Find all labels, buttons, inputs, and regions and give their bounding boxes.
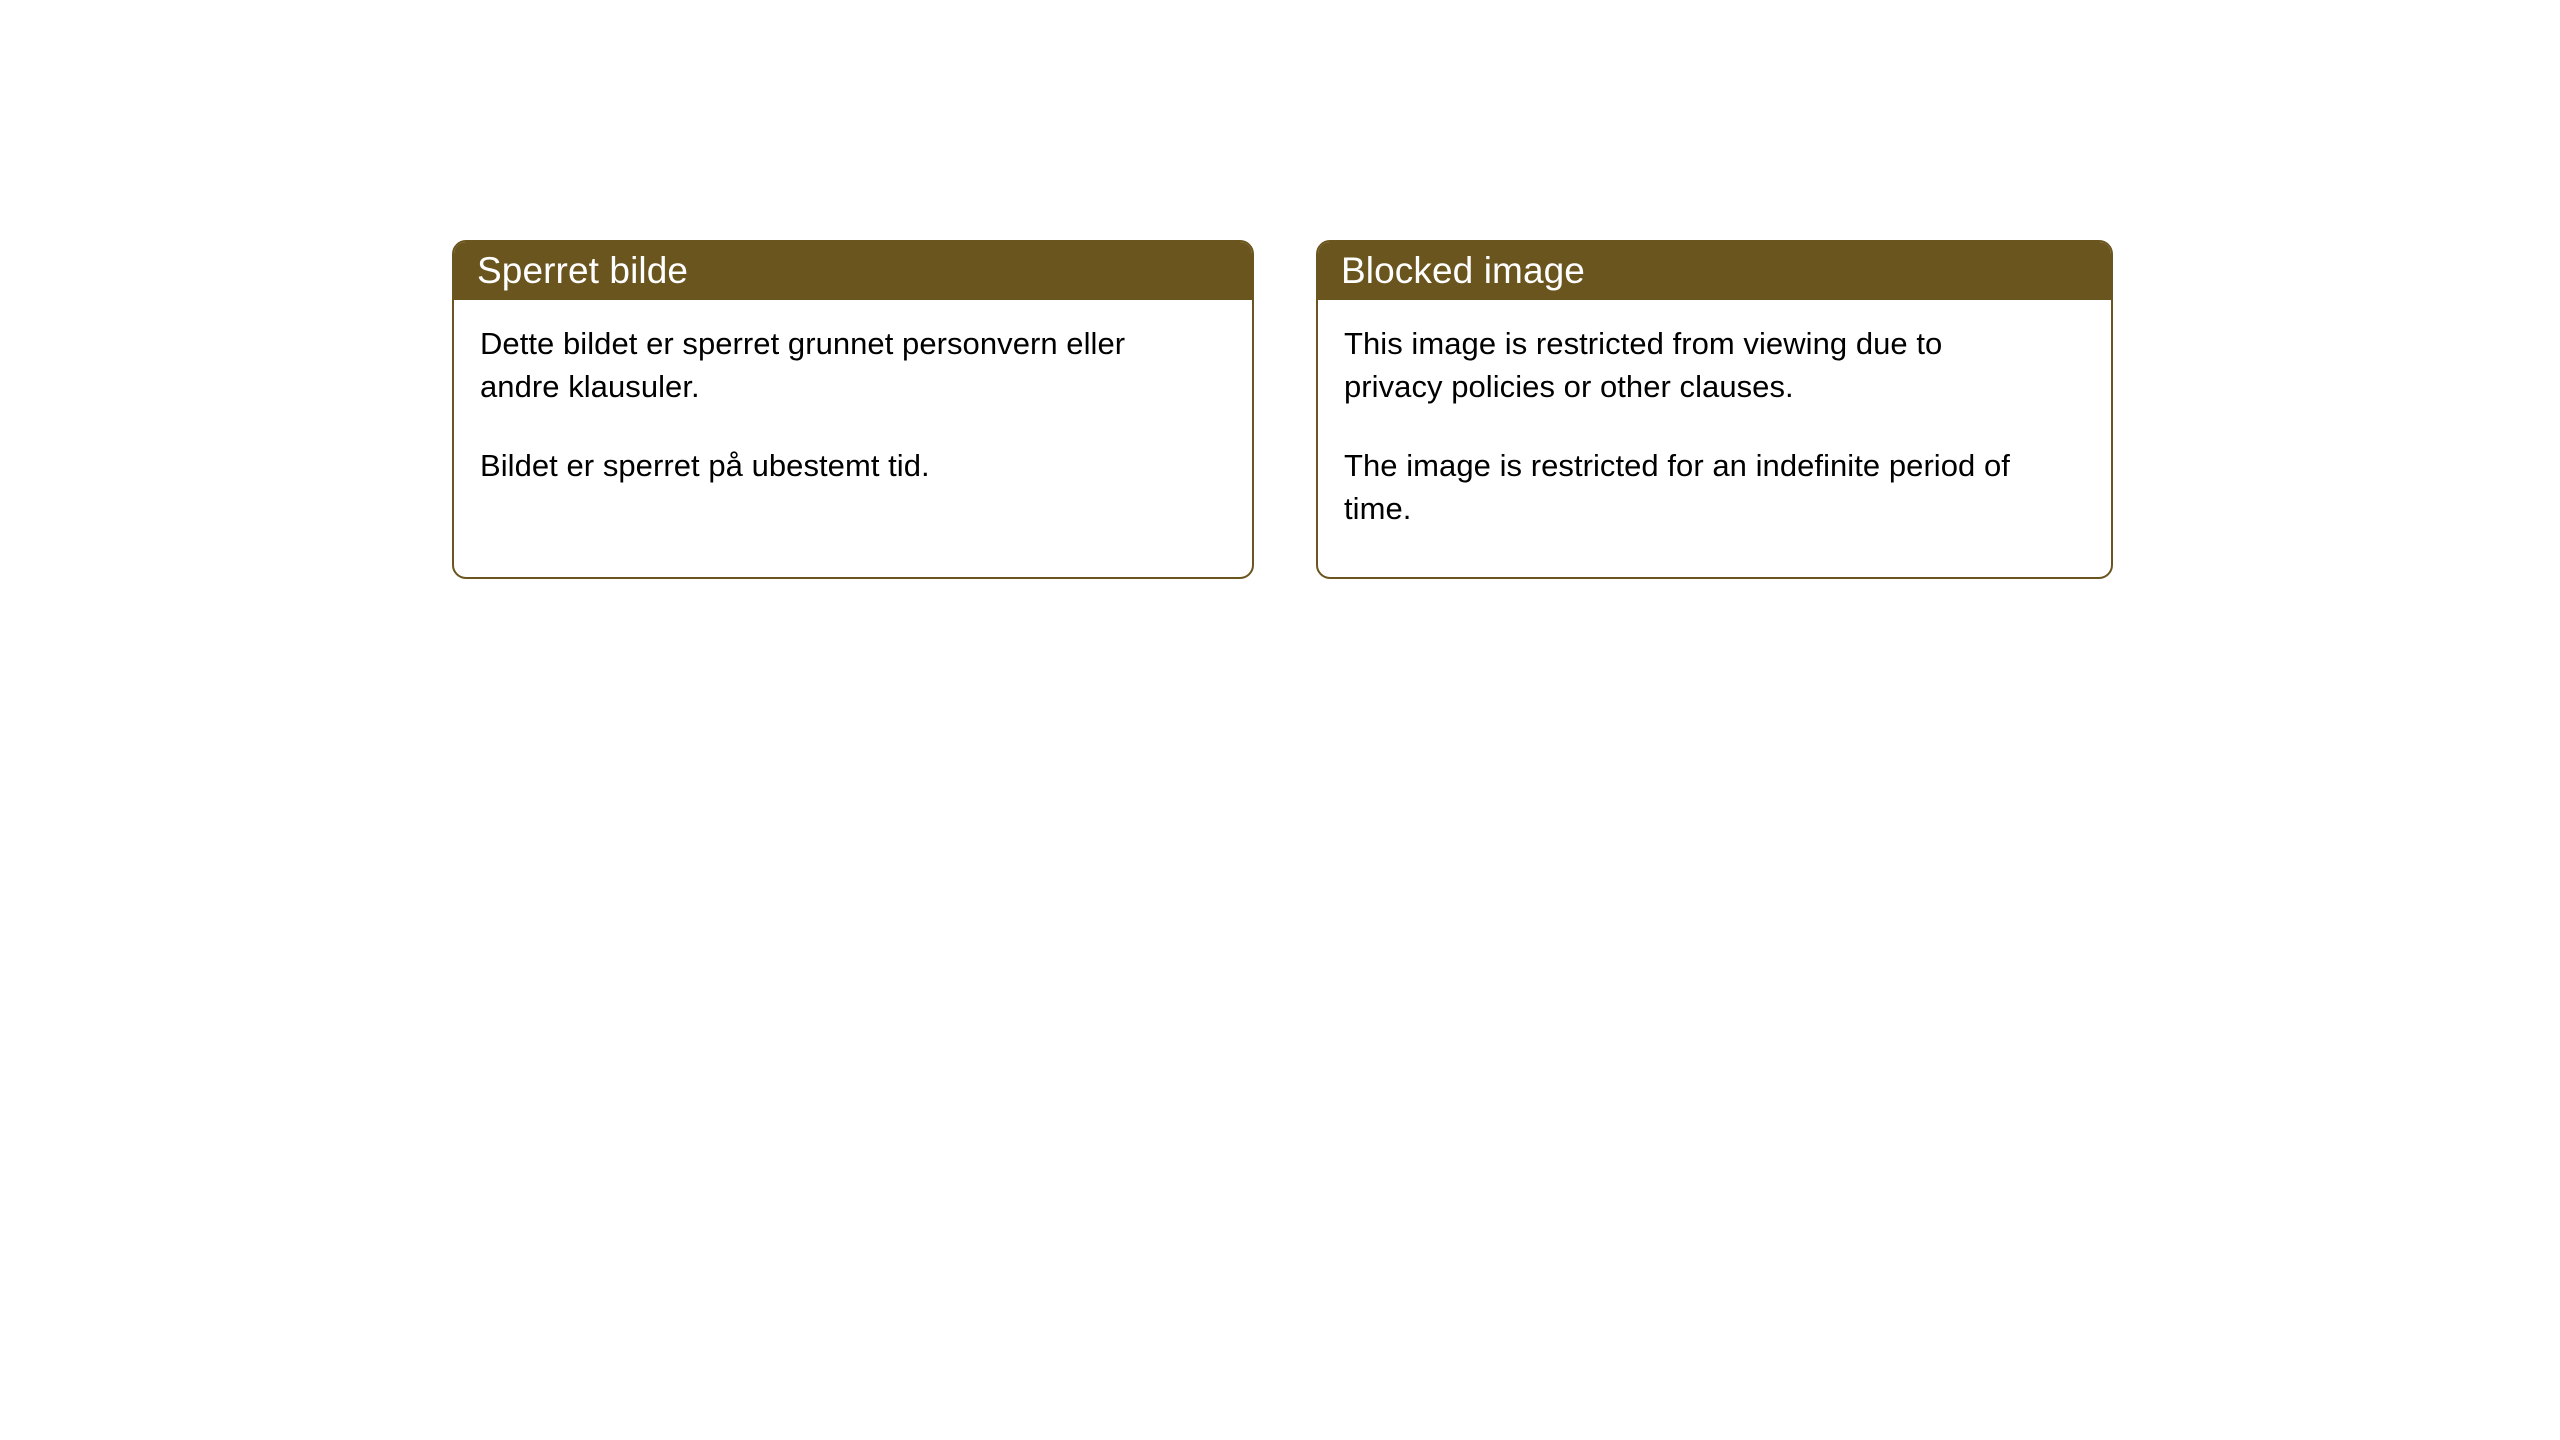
card-paragraph-secondary-english: The image is restricted for an indefinit… xyxy=(1344,444,2044,530)
card-title-norwegian: Sperret bilde xyxy=(477,252,688,289)
card-paragraph-primary-norwegian: Dette bildet er sperret grunnet personve… xyxy=(480,322,1180,408)
card-body-english: This image is restricted from viewing du… xyxy=(1318,300,2111,530)
card-body-norwegian: Dette bildet er sperret grunnet personve… xyxy=(454,300,1252,487)
card-header-english: Blocked image xyxy=(1316,240,2113,300)
blocked-image-card-norwegian: Sperret bilde Dette bildet er sperret gr… xyxy=(452,240,1254,579)
card-header-norwegian: Sperret bilde xyxy=(452,240,1254,300)
card-paragraph-secondary-norwegian: Bildet er sperret på ubestemt tid. xyxy=(480,444,1180,487)
card-paragraph-primary-english: This image is restricted from viewing du… xyxy=(1344,322,2044,408)
card-title-english: Blocked image xyxy=(1341,252,1585,289)
blocked-image-card-english: Blocked image This image is restricted f… xyxy=(1316,240,2113,579)
blocked-image-notices: Sperret bilde Dette bildet er sperret gr… xyxy=(0,0,2560,1440)
